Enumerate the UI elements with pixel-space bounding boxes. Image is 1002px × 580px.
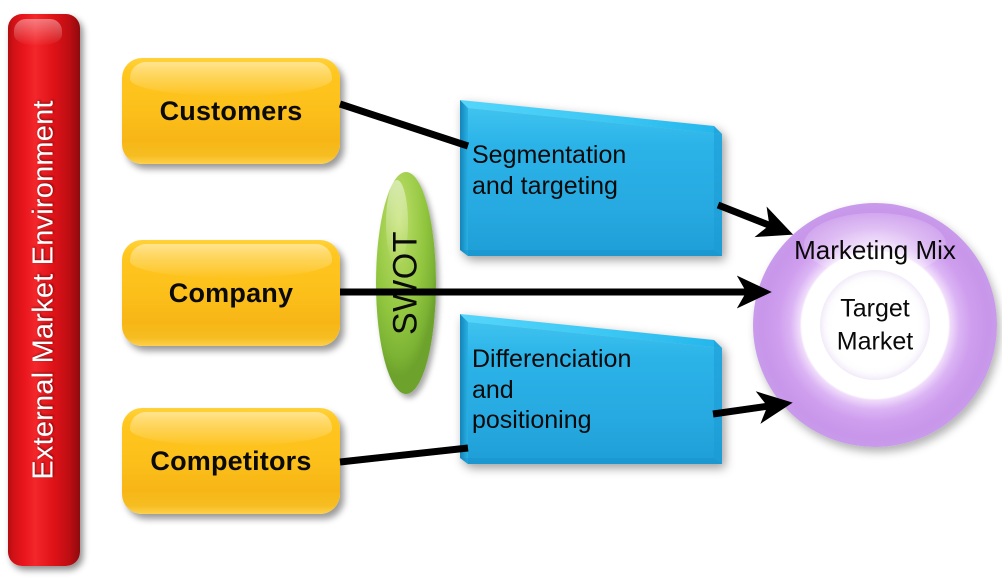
- connector-competitors-to-differenciation: [340, 448, 468, 462]
- swot-ellipse[interactable]: SWOT: [376, 172, 436, 394]
- swot-label: SWOT: [387, 231, 426, 335]
- process-box-differenciation[interactable]: Differenciation and positioning: [456, 306, 728, 472]
- input-box-company[interactable]: Company: [122, 240, 340, 346]
- external-market-environment-label: External Market Environment: [28, 100, 61, 479]
- input-box-competitors-label: Competitors: [150, 446, 311, 477]
- process-box-segmentation[interactable]: Segmentation and targeting: [456, 92, 728, 264]
- input-box-customers-label: Customers: [160, 96, 303, 127]
- process-box-differenciation-label: Differenciation and positioning: [472, 344, 631, 436]
- input-box-customers[interactable]: Customers: [122, 58, 340, 164]
- connector-customers-to-segmentation: [340, 104, 468, 146]
- input-box-company-label: Company: [169, 278, 293, 309]
- external-market-environment-bar: External Market Environment: [8, 14, 80, 566]
- marketing-mix-donut[interactable]: Marketing Mix Target Market: [753, 203, 997, 447]
- marketing-mix-label: Marketing Mix: [753, 235, 997, 266]
- process-box-segmentation-label: Segmentation and targeting: [472, 140, 626, 201]
- target-market-label: Target Market: [753, 293, 997, 358]
- diagram-canvas: External Market Environment Customers Co…: [0, 0, 1002, 580]
- input-box-competitors[interactable]: Competitors: [122, 408, 340, 514]
